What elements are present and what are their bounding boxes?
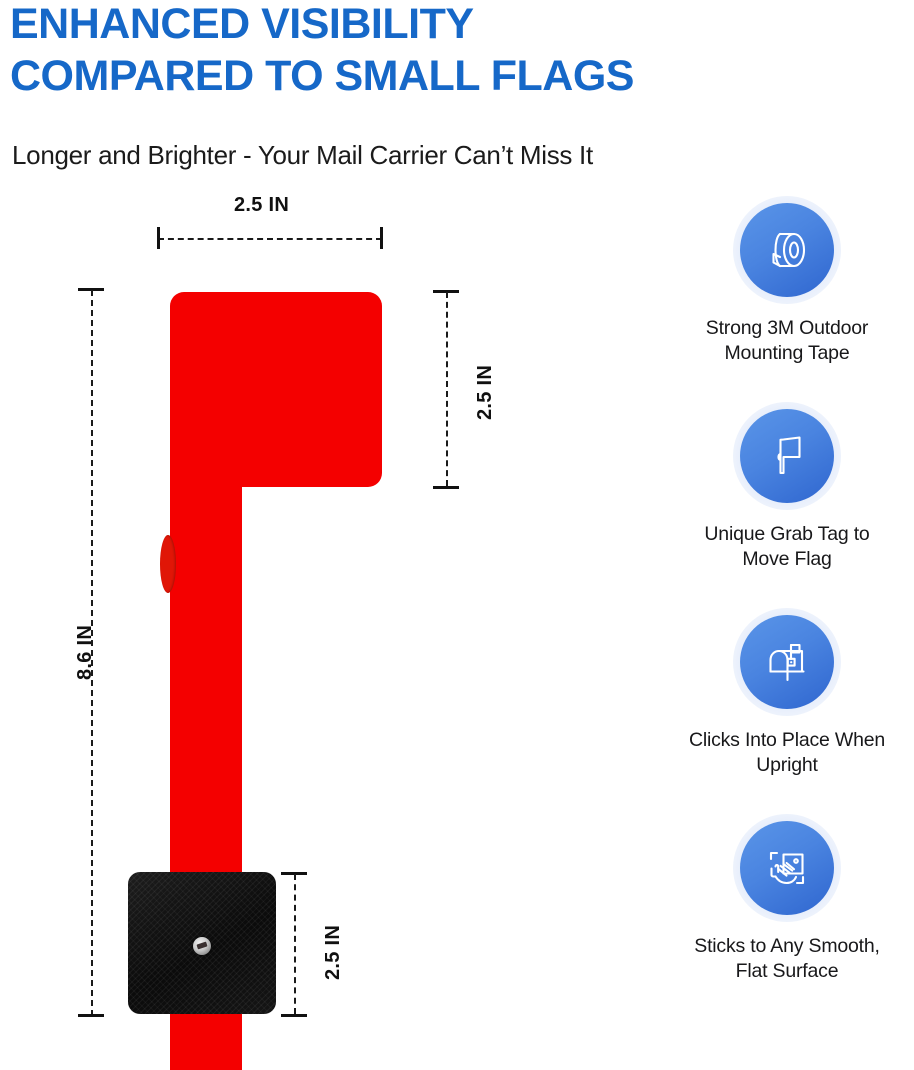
feature-disc <box>740 615 834 709</box>
mailbox-icon <box>758 633 816 691</box>
feature-label: Strong 3M Outdoor Mounting Tape <box>660 316 914 366</box>
feature-item-clicks-into-place: Clicks Into Place When Upright <box>660 608 914 778</box>
page-subheadline: Longer and Brighter - Your Mail Carrier … <box>12 138 872 172</box>
feature-label-line-2: Move Flag <box>742 548 831 570</box>
feature-disc <box>740 821 834 915</box>
dimension-line-flag-width <box>158 238 382 240</box>
dimension-line-flag-height <box>446 292 448 486</box>
feature-label: Sticks to Any Smooth, Flat Surface <box>660 934 914 984</box>
feature-label-line-1: Sticks to Any Smooth, <box>694 935 879 957</box>
product-diagram: 2.5 IN 2.5 IN 8.6 IN 2.5 IN <box>0 180 640 1024</box>
feature-label-line-1: Clicks Into Place When <box>689 729 885 751</box>
feature-label-line-2: Mounting Tape <box>725 342 850 364</box>
feature-badge <box>733 814 841 922</box>
headline-line-1: ENHANCED VISIBILITY <box>10 0 800 50</box>
dimension-label-total-height: 8.6 IN <box>74 625 97 680</box>
dimension-cap-flag-width-left <box>157 227 160 249</box>
page-headline: ENHANCED VISIBILITY COMPARED TO SMALL FL… <box>10 0 800 102</box>
tape-roll-icon <box>758 221 816 279</box>
feature-item-sticks-to-surface: Sticks to Any Smooth, Flat Surface <box>660 814 914 984</box>
hand-pressing-surface-icon <box>758 839 816 897</box>
dimension-cap-flag-height-bottom <box>433 486 459 489</box>
dimension-line-base-height <box>294 874 296 1014</box>
feature-disc <box>740 203 834 297</box>
dimension-label-base-height: 2.5 IN <box>322 925 345 980</box>
feature-label-line-1: Strong 3M Outdoor <box>706 317 868 339</box>
feature-label-line-1: Unique Grab Tag to <box>704 523 869 545</box>
feature-label-line-2: Flat Surface <box>736 960 839 982</box>
feature-item-mounting-tape: Strong 3M Outdoor Mounting Tape <box>660 196 914 366</box>
flag-grab-tag-icon <box>758 427 816 485</box>
feature-list: Strong 3M Outdoor Mounting Tape Unique G… <box>660 196 914 1024</box>
grab-tag <box>160 535 176 593</box>
dimension-label-flag-height: 2.5 IN <box>474 365 497 420</box>
headline-line-2: COMPARED TO SMALL FLAGS <box>10 50 800 102</box>
feature-label-line-2: Upright <box>756 754 817 776</box>
flag-banner <box>170 292 382 487</box>
dimension-cap-total-height-bottom <box>78 1014 104 1017</box>
dimension-cap-flag-width-right <box>380 227 383 249</box>
base-screw <box>193 937 211 955</box>
dimension-label-flag-width: 2.5 IN <box>234 194 289 217</box>
dimension-cap-base-height-bottom <box>281 1014 307 1017</box>
feature-disc <box>740 409 834 503</box>
feature-label: Unique Grab Tag to Move Flag <box>660 522 914 572</box>
feature-label: Clicks Into Place When Upright <box>660 728 914 778</box>
feature-badge <box>733 196 841 304</box>
feature-badge <box>733 402 841 510</box>
feature-badge <box>733 608 841 716</box>
feature-item-grab-tag: Unique Grab Tag to Move Flag <box>660 402 914 572</box>
